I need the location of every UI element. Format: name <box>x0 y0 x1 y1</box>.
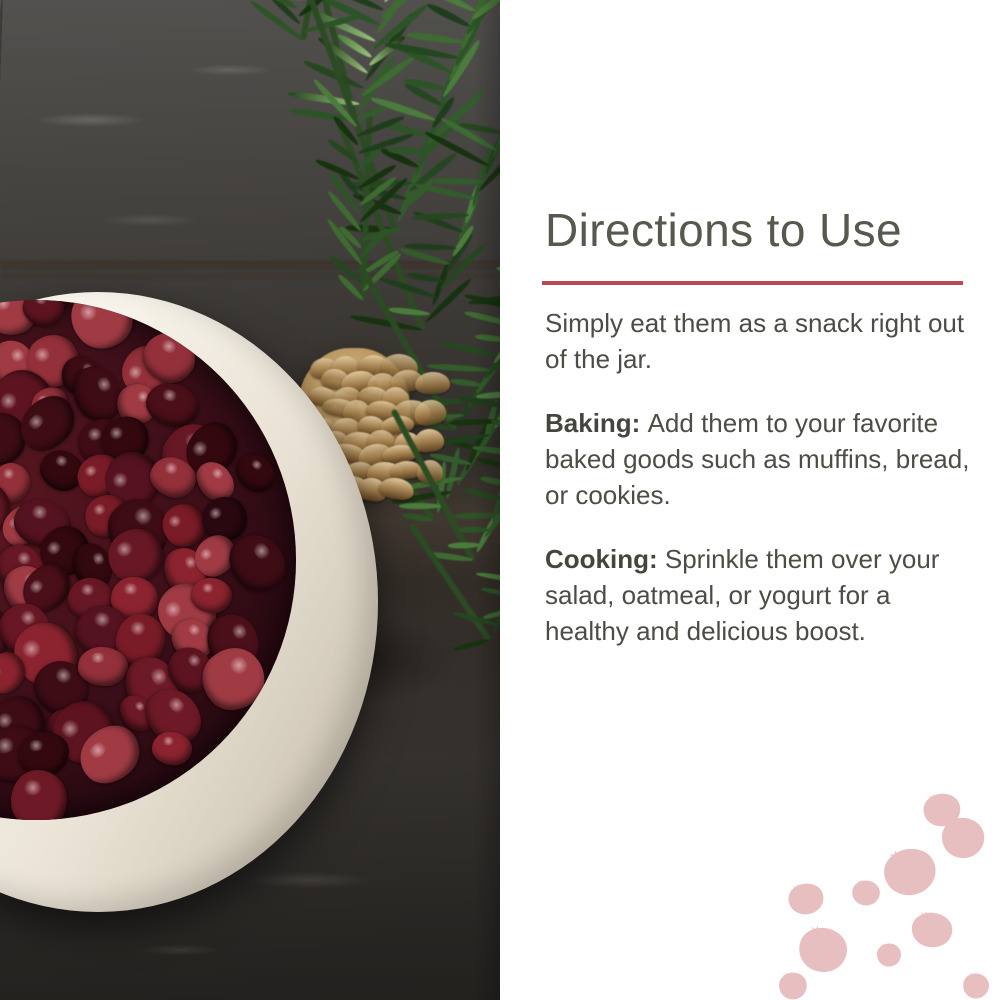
cranberry-blob-icon <box>793 923 852 977</box>
paragraph-baking: Baking: Add them to your favorite baked … <box>545 405 977 513</box>
promo-graphic: Directions to Use Simply eat them as a s… <box>0 0 1000 1000</box>
cranberry-blob-icon <box>875 942 903 968</box>
paragraph-lead-cooking: Cooking: <box>545 544 665 574</box>
paragraph-snack: Simply eat them as a snack right out of … <box>545 305 977 377</box>
text-panel: Directions to Use Simply eat them as a s… <box>500 0 1000 1000</box>
product-photo <box>0 0 500 1000</box>
cranberry-blob-icon <box>937 814 988 862</box>
cranberry-blob-icon <box>961 972 991 1000</box>
dried-cranberry <box>229 447 283 500</box>
cranberry-blob-icon <box>785 881 827 918</box>
paragraph-lead-baking: Baking: <box>545 408 648 438</box>
directions-body: Simply eat them as a snack right out of … <box>545 305 977 649</box>
cranberry-decoration-cluster <box>770 770 1000 1000</box>
page-title: Directions to Use <box>545 203 902 257</box>
title-divider-rule <box>542 281 963 285</box>
photo-edge-vignette <box>474 0 500 1000</box>
sprig-stem <box>391 408 476 561</box>
cranberry-blob-icon <box>908 910 956 950</box>
dried-cranberry <box>10 769 68 820</box>
paragraph-cooking: Cooking: Sprinkle them over your salad, … <box>545 541 977 649</box>
cranberry-blob-icon <box>850 879 882 907</box>
cranberry-blob-icon <box>777 971 810 1000</box>
cranberry-blob-icon <box>878 843 943 902</box>
cranberry-blob-icon <box>920 791 963 829</box>
paragraph-text: Simply eat them as a snack right out of … <box>545 308 964 374</box>
